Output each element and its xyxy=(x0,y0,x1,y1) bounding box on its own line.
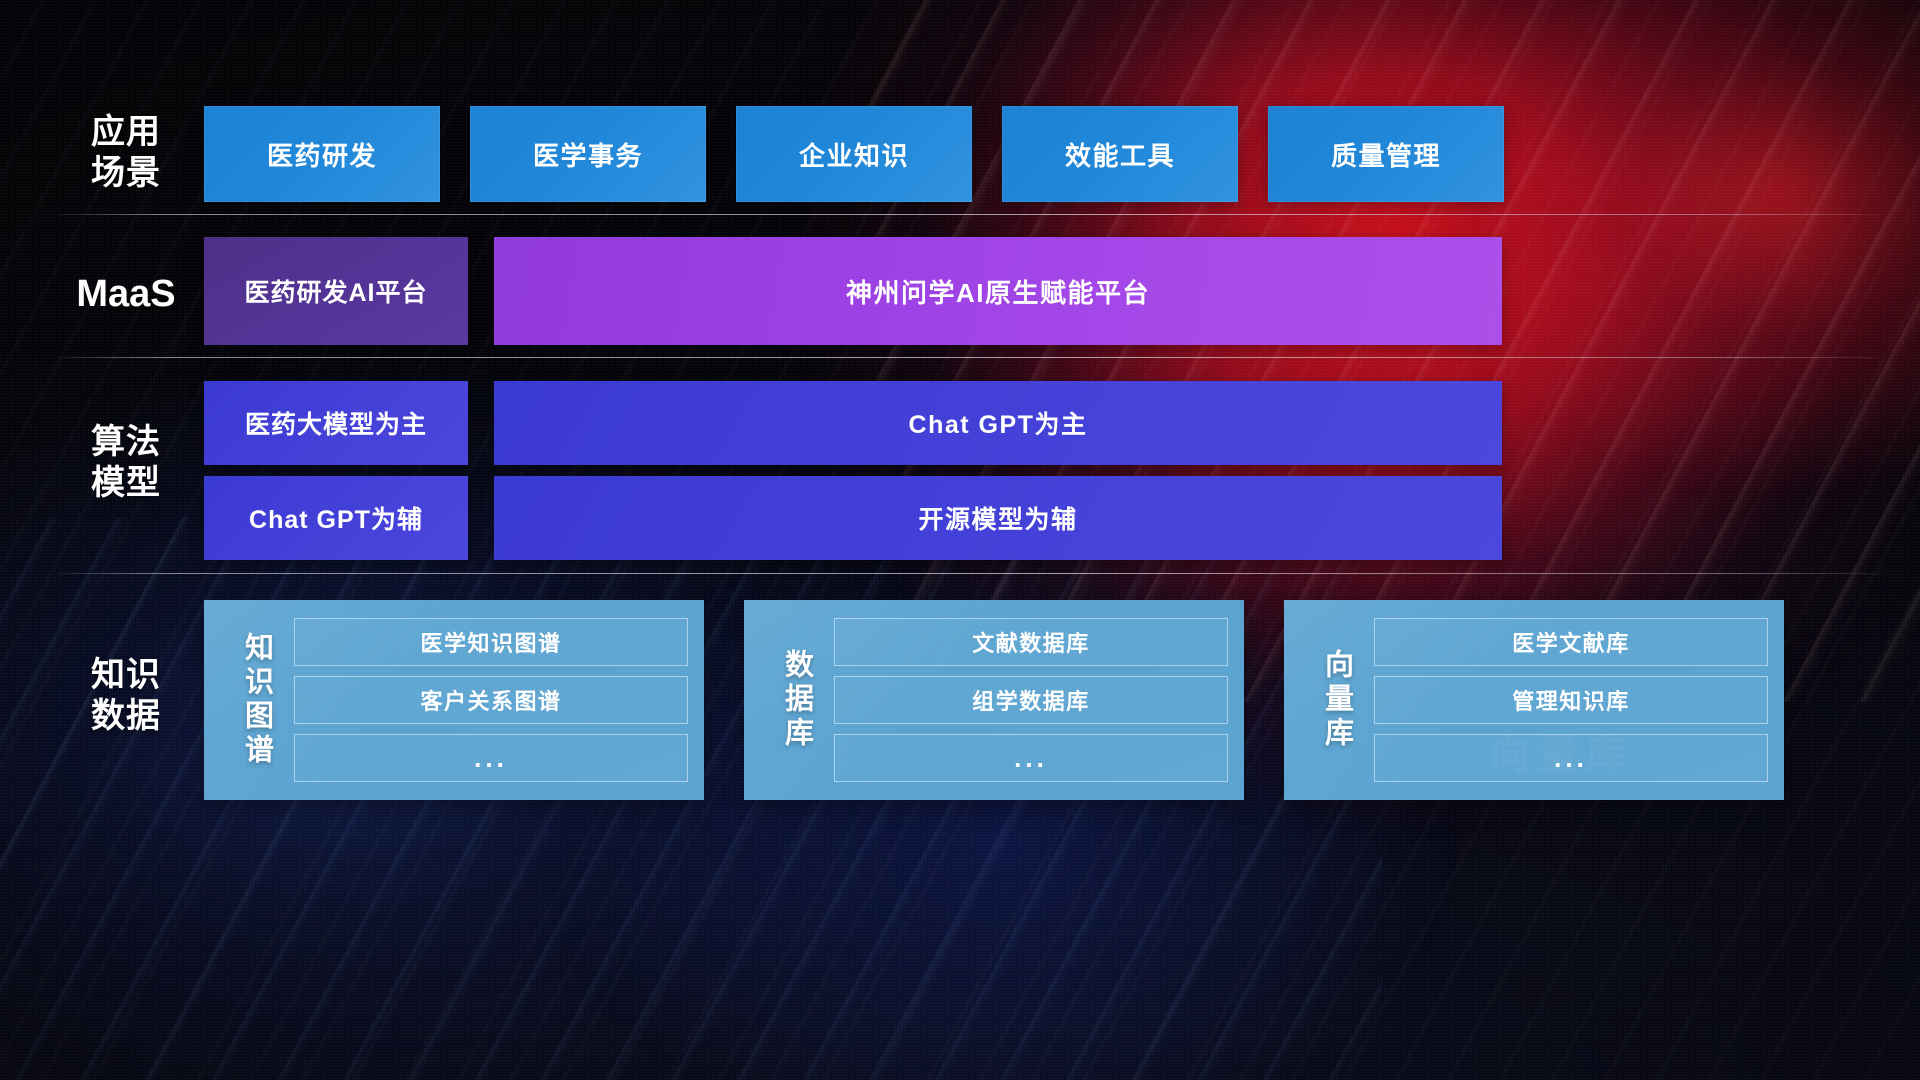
algorithm-box-primary-left[interactable]: 医药大模型为主 xyxy=(204,381,468,465)
app-scenario-label-4: 效能工具 xyxy=(1065,136,1175,173)
knowledge-item-vs-label-1: 医学文献库 xyxy=(1512,626,1630,658)
row-label-application-line1: 应用 xyxy=(58,112,194,153)
maas-row: 医药研发AI平台 神州问学AI原生赋能平台 xyxy=(204,237,1502,345)
algorithm-label-primary-left: 医药大模型为主 xyxy=(245,405,427,441)
knowledge-item-kg-1[interactable]: 医学知识图谱 xyxy=(294,618,688,666)
divider-algorithm-knowledge xyxy=(58,573,1882,574)
knowledge-item-vs-2[interactable]: 管理知识库 xyxy=(1374,676,1768,724)
knowledge-item-kg-2[interactable]: 客户关系图谱 xyxy=(294,676,688,724)
knowledge-group-label-database: 数据库 xyxy=(758,614,834,786)
app-scenario-box-1[interactable]: 医药研发 xyxy=(204,106,440,202)
app-scenario-box-5[interactable]: 质量管理 xyxy=(1268,106,1504,202)
row-label-algorithm-line2: 模型 xyxy=(58,463,194,504)
knowledge-group-items-vector-store: 医学文献库 管理知识库 ... xyxy=(1374,614,1768,786)
row-label-algorithm-line1: 算法 xyxy=(58,422,194,463)
app-scenario-box-4[interactable]: 效能工具 xyxy=(1002,106,1238,202)
divider-application-maas xyxy=(58,214,1882,215)
knowledge-item-db-label-3: ... xyxy=(1014,743,1048,774)
row-label-application-line2: 场景 xyxy=(58,153,194,194)
knowledge-item-db-2[interactable]: 组学数据库 xyxy=(834,676,1228,724)
row-label-algorithm-models: 算法 模型 xyxy=(58,422,194,505)
algorithm-label-primary-right: Chat GPT为主 xyxy=(909,405,1088,441)
knowledge-item-db-label-2: 组学数据库 xyxy=(972,684,1090,716)
maas-platform-box-shenzhou[interactable]: 神州问学AI原生赋能平台 xyxy=(494,237,1502,345)
knowledge-item-vs-label-3: ... xyxy=(1554,743,1588,774)
algorithm-label-secondary-left: Chat GPT为辅 xyxy=(249,500,423,536)
knowledge-item-vs-3[interactable]: ... xyxy=(1374,734,1768,782)
application-scenarios-row: 医药研发 医学事务 企业知识 效能工具 质量管理 xyxy=(204,106,1504,202)
algorithm-label-secondary-right: 开源模型为辅 xyxy=(918,500,1077,536)
row-label-knowledge-line1: 知识 xyxy=(58,655,194,696)
knowledge-item-db-3[interactable]: ... xyxy=(834,734,1228,782)
row-label-application-scenarios: 应用 场景 xyxy=(58,112,194,195)
knowledge-item-db-label-1: 文献数据库 xyxy=(972,626,1090,658)
row-label-knowledge-line2: 数据 xyxy=(58,696,194,737)
knowledge-group-items-knowledge-graph: 医学知识图谱 客户关系图谱 ... xyxy=(294,614,688,786)
knowledge-group-database: 数据库 文献数据库 组学数据库 ... xyxy=(744,600,1244,800)
knowledge-group-vector-store: 向量库 医学文献库 管理知识库 ... xyxy=(1284,600,1784,800)
app-scenario-label-1: 医药研发 xyxy=(267,136,377,173)
knowledge-item-kg-label-2: 客户关系图谱 xyxy=(420,684,561,716)
knowledge-item-kg-3[interactable]: ... xyxy=(294,734,688,782)
knowledge-item-vs-label-2: 管理知识库 xyxy=(1512,684,1630,716)
knowledge-group-items-database: 文献数据库 组学数据库 ... xyxy=(834,614,1228,786)
maas-platform-label-shenzhou: 神州问学AI原生赋能平台 xyxy=(846,273,1150,310)
knowledge-data-row: 知识图谱 医学知识图谱 客户关系图谱 ... 数据库 文献数据库 xyxy=(204,600,1784,800)
knowledge-group-label-knowledge-graph: 知识图谱 xyxy=(218,614,294,786)
app-scenario-label-5: 质量管理 xyxy=(1331,136,1441,173)
divider-maas-algorithm xyxy=(58,357,1882,358)
row-label-knowledge-data: 知识 数据 xyxy=(58,655,194,738)
maas-platform-label-medical: 医药研发AI平台 xyxy=(244,273,427,309)
knowledge-group-knowledge-graph: 知识图谱 医学知识图谱 客户关系图谱 ... xyxy=(204,600,704,800)
algorithm-box-secondary-left[interactable]: Chat GPT为辅 xyxy=(204,476,468,560)
app-scenario-box-2[interactable]: 医学事务 xyxy=(470,106,706,202)
knowledge-item-kg-label-3: ... xyxy=(474,743,508,774)
app-scenario-box-3[interactable]: 企业知识 xyxy=(736,106,972,202)
app-scenario-label-2: 医学事务 xyxy=(533,136,643,173)
algorithm-box-secondary-right[interactable]: 开源模型为辅 xyxy=(494,476,1502,560)
algorithm-models-row-2: Chat GPT为辅 开源模型为辅 xyxy=(204,476,1502,560)
maas-platform-box-medical[interactable]: 医药研发AI平台 xyxy=(204,237,468,345)
app-scenario-label-3: 企业知识 xyxy=(799,136,909,173)
row-label-maas: MaaS xyxy=(58,271,194,317)
row-label-maas-text: MaaS xyxy=(58,271,194,317)
algorithm-models-row-1: 医药大模型为主 Chat GPT为主 xyxy=(204,381,1502,465)
algorithm-box-primary-right[interactable]: Chat GPT为主 xyxy=(494,381,1502,465)
knowledge-item-db-1[interactable]: 文献数据库 xyxy=(834,618,1228,666)
knowledge-item-vs-1[interactable]: 医学文献库 xyxy=(1374,618,1768,666)
knowledge-item-kg-label-1: 医学知识图谱 xyxy=(420,626,561,658)
knowledge-group-label-vector-store: 向量库 xyxy=(1298,614,1374,786)
